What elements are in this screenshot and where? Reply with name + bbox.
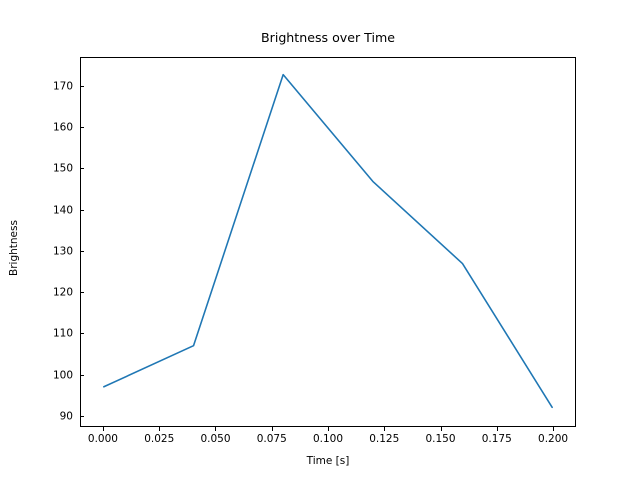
x-tick-mark [215,427,216,431]
x-tick-mark [441,427,442,431]
y-tick-label: 100 [53,369,73,381]
y-axis-label: Brightness [8,220,20,276]
y-tick-150: 150 [20,168,80,169]
y-tick-110: 110 [20,333,80,334]
y-tick-label: 150 [53,163,73,175]
x-tick-mark [328,427,329,431]
y-tick-90: 90 [20,416,80,417]
x-tick-mark [272,427,273,431]
y-tick-label: 140 [53,204,73,216]
y-tick-160: 160 [20,127,80,128]
chart-title: Brightness over Time [80,30,576,45]
y-tick-label: 110 [53,328,73,340]
x-tick-label: 0.150 [425,433,455,445]
brightness-data-line [104,75,552,408]
x-tick-label: 0.175 [482,433,512,445]
x-tick-mark [384,427,385,431]
x-tick-label: 0.075 [257,433,287,445]
x-tick-label: 0.100 [313,433,343,445]
x-tick-label: 0.050 [200,433,230,445]
y-tick-label: 130 [53,245,73,257]
y-tick-label: 120 [53,287,73,299]
x-tick-label: 0.025 [144,433,174,445]
x-tick-label: 0.000 [88,433,118,445]
x-tick-label: 0.200 [538,433,568,445]
x-tick-mark [553,427,554,431]
plot-axes-area [80,57,576,427]
y-tick-120: 120 [20,292,80,293]
y-tick-label: 90 [60,410,73,422]
y-tick-label: 170 [53,80,73,92]
y-tick-140: 140 [20,210,80,211]
x-axis-label: Time [s] [80,455,576,467]
figure-canvas: Brightness over Time 9010011012013014015… [0,0,640,480]
y-tick-label: 160 [53,121,73,133]
x-tick-mark [103,427,104,431]
line-plot-svg [81,58,575,426]
x-tick-mark [159,427,160,431]
x-tick-label: 0.125 [369,433,399,445]
y-tick-100: 100 [20,375,80,376]
x-tick-mark [497,427,498,431]
y-tick-170: 170 [20,86,80,87]
y-tick-130: 130 [20,251,80,252]
